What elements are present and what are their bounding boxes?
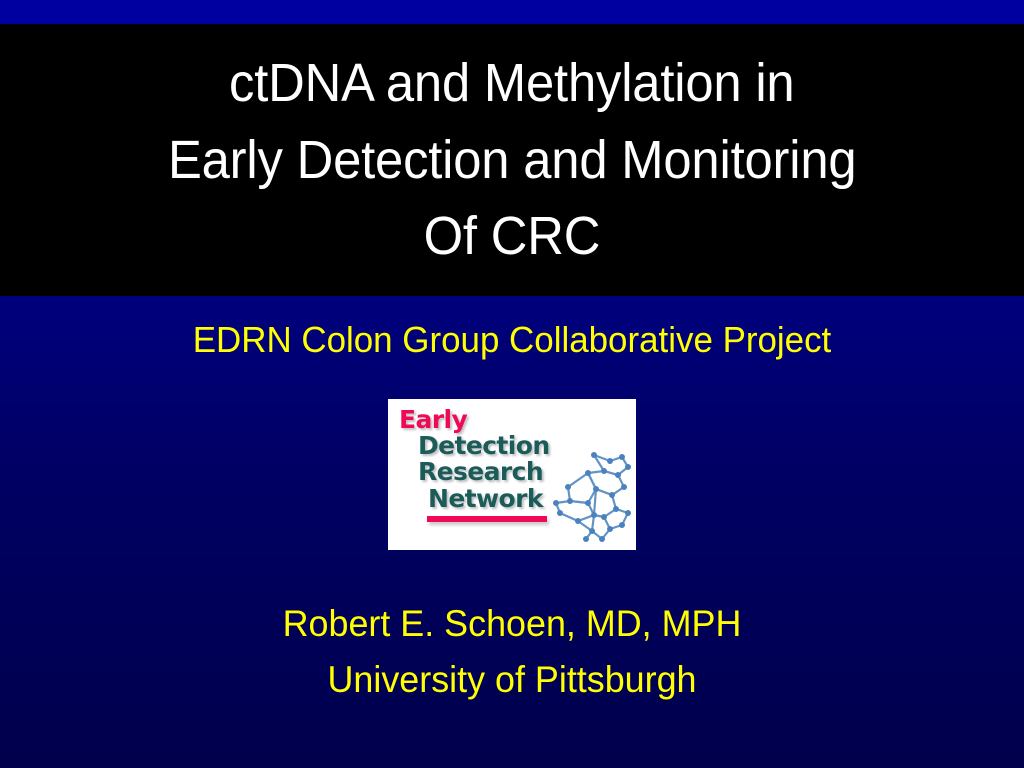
top-accent-band (0, 0, 1024, 24)
dna-network-icon (548, 447, 632, 543)
edrn-logo-inner: Early Detection Research Network (388, 399, 636, 550)
subtitle: EDRN Colon Group Collaborative Project (15, 318, 1008, 362)
title-line-3: Of CRC (424, 198, 601, 275)
presenter-name: Robert E. Schoen, MD, MPH (15, 596, 1008, 652)
title-line-2: Early Detection and Monitoring (168, 122, 856, 199)
logo-word-detection: Detection (418, 431, 550, 460)
title-slide: ctDNA and Methylation in Early Detection… (0, 0, 1024, 768)
edrn-logo: Early Detection Research Network (388, 399, 636, 550)
logo-word-research: Research (418, 457, 543, 486)
presenter-affiliation: University of Pittsburgh (15, 652, 1008, 708)
logo-word-early: Early (399, 405, 467, 434)
title-banner: ctDNA and Methylation in Early Detection… (0, 24, 1024, 296)
logo-word-network: Network (428, 484, 543, 513)
presenter-block: Robert E. Schoen, MD, MPH University of … (0, 596, 1024, 708)
title-line-1: ctDNA and Methylation in (229, 45, 794, 122)
logo-underline-rule (427, 516, 547, 522)
